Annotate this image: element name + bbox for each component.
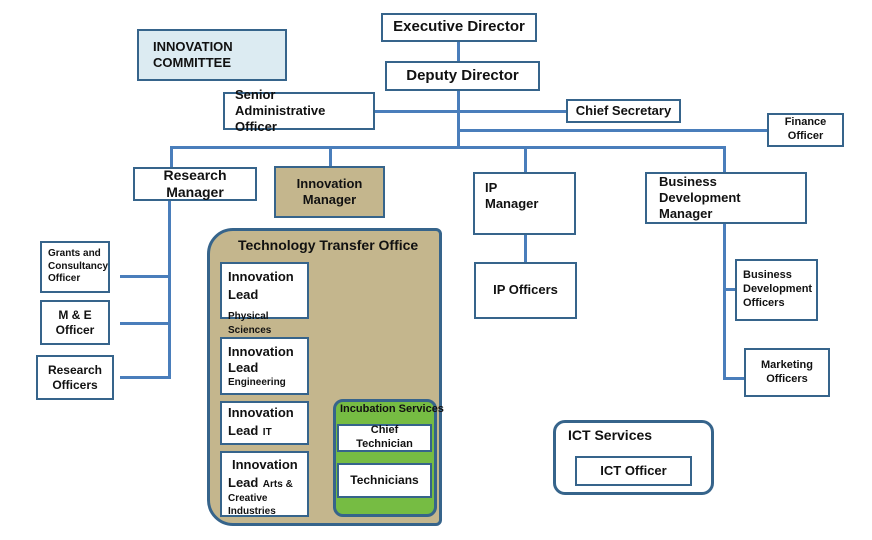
connector-drop-ip-manager (524, 146, 527, 172)
node-label-innovation-manager-line2: Manager (276, 192, 383, 208)
node-label-lead-arts-main1: Innovation (222, 457, 307, 473)
node-label-lead-arts-sub: Arts & (263, 479, 293, 490)
connector-research-to-grants (120, 275, 171, 278)
node-label-lead-engineering-sub: Engineering (222, 377, 307, 390)
node-ip-manager[interactable]: IP Manager (473, 172, 576, 235)
connector-deputy-to-finance-officer (457, 129, 768, 132)
node-label-lead-physical-row2: Lead Physical (222, 285, 307, 325)
node-label-executive-director: Executive Director (383, 18, 535, 37)
node-m-and-e-officer[interactable]: M & E Officer (40, 300, 110, 345)
node-innovation-lead-arts[interactable]: Innovation Lead Arts & Creative Industri… (220, 451, 309, 517)
connector-bd-to-marketing (723, 377, 745, 380)
node-chief-secretary[interactable]: Chief Secretary (566, 99, 681, 123)
node-label-marketing-officers-line2: Officers (746, 373, 828, 387)
node-label-lead-engineering-main2: Lead (222, 360, 307, 376)
node-label-lead-engineering-main1: Innovation (222, 344, 307, 360)
node-senior-administrative-officer[interactable]: Senior Administrative Officer (223, 92, 375, 130)
connector-deputy-spine (457, 90, 460, 148)
node-label-ict-officer: ICT Officer (577, 463, 690, 479)
group-title-incubation-services: Incubation Services (340, 403, 444, 415)
node-label-grants-line3: Officer (42, 273, 108, 286)
node-executive-director[interactable]: Executive Director (381, 13, 537, 42)
group-incubation-services (333, 399, 437, 517)
node-label-lead-it-main1: Innovation (222, 405, 307, 421)
node-label-lead-physical-main1: Innovation (222, 269, 307, 285)
node-label-lead-physical-sub2: Sciences (222, 325, 307, 338)
connector-deputy-to-chief-secretary (457, 110, 567, 113)
node-grants-and-consultancy-officer[interactable]: Grants and Consultancy Officer (40, 241, 110, 293)
node-label-lead-it-sub: IT (263, 427, 272, 438)
node-label-senior-admin-line1: Senior Administrative (225, 87, 373, 120)
node-label-me-officer-line2: Officer (42, 323, 108, 338)
node-label-innovation-committee-line1: INNOVATION (139, 39, 285, 55)
node-label-bd-officers-line1: Business (737, 269, 816, 283)
node-label-finance-officer-line2: Officer (769, 130, 842, 144)
node-marketing-officers[interactable]: Marketing Officers (744, 348, 830, 397)
node-label-lead-it-main2: Lead (228, 423, 258, 438)
connector-research-to-research-officers (120, 376, 171, 379)
node-label-innovation-manager-line1: Innovation (276, 176, 383, 192)
node-label-lead-arts-sub2: Creative (222, 493, 307, 506)
node-research-manager[interactable]: Research Manager (133, 167, 257, 201)
connector-bd-manager-spine (723, 224, 726, 380)
node-business-development-manager[interactable]: Business Development Manager (645, 172, 807, 224)
connector-research-to-me-officer (120, 322, 171, 325)
group-title-ict-services: ICT Services (568, 427, 652, 443)
node-label-research-officers-line2: Officers (38, 378, 112, 393)
connector-manager-bus (170, 146, 726, 149)
node-label-lead-arts-main2: Lead (228, 475, 258, 490)
node-label-lead-arts-sub3: Industries (222, 506, 307, 519)
node-ip-officers[interactable]: IP Officers (474, 262, 577, 319)
node-label-lead-it-row2: Lead IT (222, 421, 307, 441)
node-label-bd-manager-line2: Manager (647, 206, 805, 222)
node-business-development-officers[interactable]: Business Development Officers (735, 259, 818, 321)
node-label-lead-arts-row2: Lead Arts & (222, 473, 307, 493)
node-label-deputy-director: Deputy Director (387, 67, 538, 86)
node-label-chief-technician: Chief Technician (339, 424, 430, 452)
node-label-finance-officer-line1: Finance (769, 116, 842, 130)
node-innovation-manager[interactable]: Innovation Manager (274, 166, 385, 218)
node-label-grants-line1: Grants and (42, 248, 108, 261)
node-label-marketing-officers-line1: Marketing (746, 359, 828, 373)
node-label-ip-officers: IP Officers (476, 282, 575, 298)
node-finance-officer[interactable]: Finance Officer (767, 113, 844, 147)
node-label-bd-officers-line3: Officers (737, 297, 816, 311)
node-innovation-lead-physical-sciences[interactable]: Innovation Lead Physical Sciences (220, 262, 309, 319)
connector-drop-research-manager (170, 146, 173, 168)
node-label-bd-manager-line1: Business Development (647, 174, 805, 207)
node-label-ip-manager-line1: IP (475, 180, 574, 196)
node-label-grants-line2: Consultancy (42, 261, 108, 274)
node-innovation-committee[interactable]: INNOVATION COMMITTEE (137, 29, 287, 81)
connector-ip-manager-to-officers (524, 235, 527, 262)
node-innovation-lead-it[interactable]: Innovation Lead IT (220, 401, 309, 445)
org-chart-canvas: Technology Transfer Office Incubation Se… (0, 0, 872, 540)
node-label-innovation-committee-line2: COMMITTEE (139, 55, 285, 71)
node-label-technicians: Technicians (339, 473, 430, 488)
connector-exec-to-deputy (457, 41, 460, 61)
node-ict-officer[interactable]: ICT Officer (575, 456, 692, 486)
node-deputy-director[interactable]: Deputy Director (385, 61, 540, 91)
node-label-research-officers-line1: Research (38, 363, 112, 378)
group-title-technology-transfer-office: Technology Transfer Office (238, 237, 418, 253)
node-label-senior-admin-line2: Officer (225, 119, 373, 135)
node-innovation-lead-engineering[interactable]: Innovation Lead Engineering (220, 337, 309, 395)
connector-drop-innovation-manager (329, 146, 332, 166)
connector-research-manager-spine (168, 199, 171, 379)
node-label-bd-officers-line2: Development (737, 283, 816, 297)
node-technicians[interactable]: Technicians (337, 463, 432, 498)
node-label-chief-secretary: Chief Secretary (568, 103, 679, 119)
node-label-lead-physical-main2: Lead (228, 287, 258, 302)
node-label-research-manager: Research Manager (135, 167, 255, 202)
node-label-me-officer-line1: M & E (42, 308, 108, 323)
node-research-officers[interactable]: Research Officers (36, 355, 114, 400)
node-label-lead-physical-sub: Physical (228, 311, 269, 322)
connector-deputy-to-senior-admin (372, 110, 460, 113)
connector-drop-bd-manager (723, 146, 726, 172)
node-chief-technician[interactable]: Chief Technician (337, 424, 432, 452)
node-label-ip-manager-line2: Manager (475, 196, 574, 212)
